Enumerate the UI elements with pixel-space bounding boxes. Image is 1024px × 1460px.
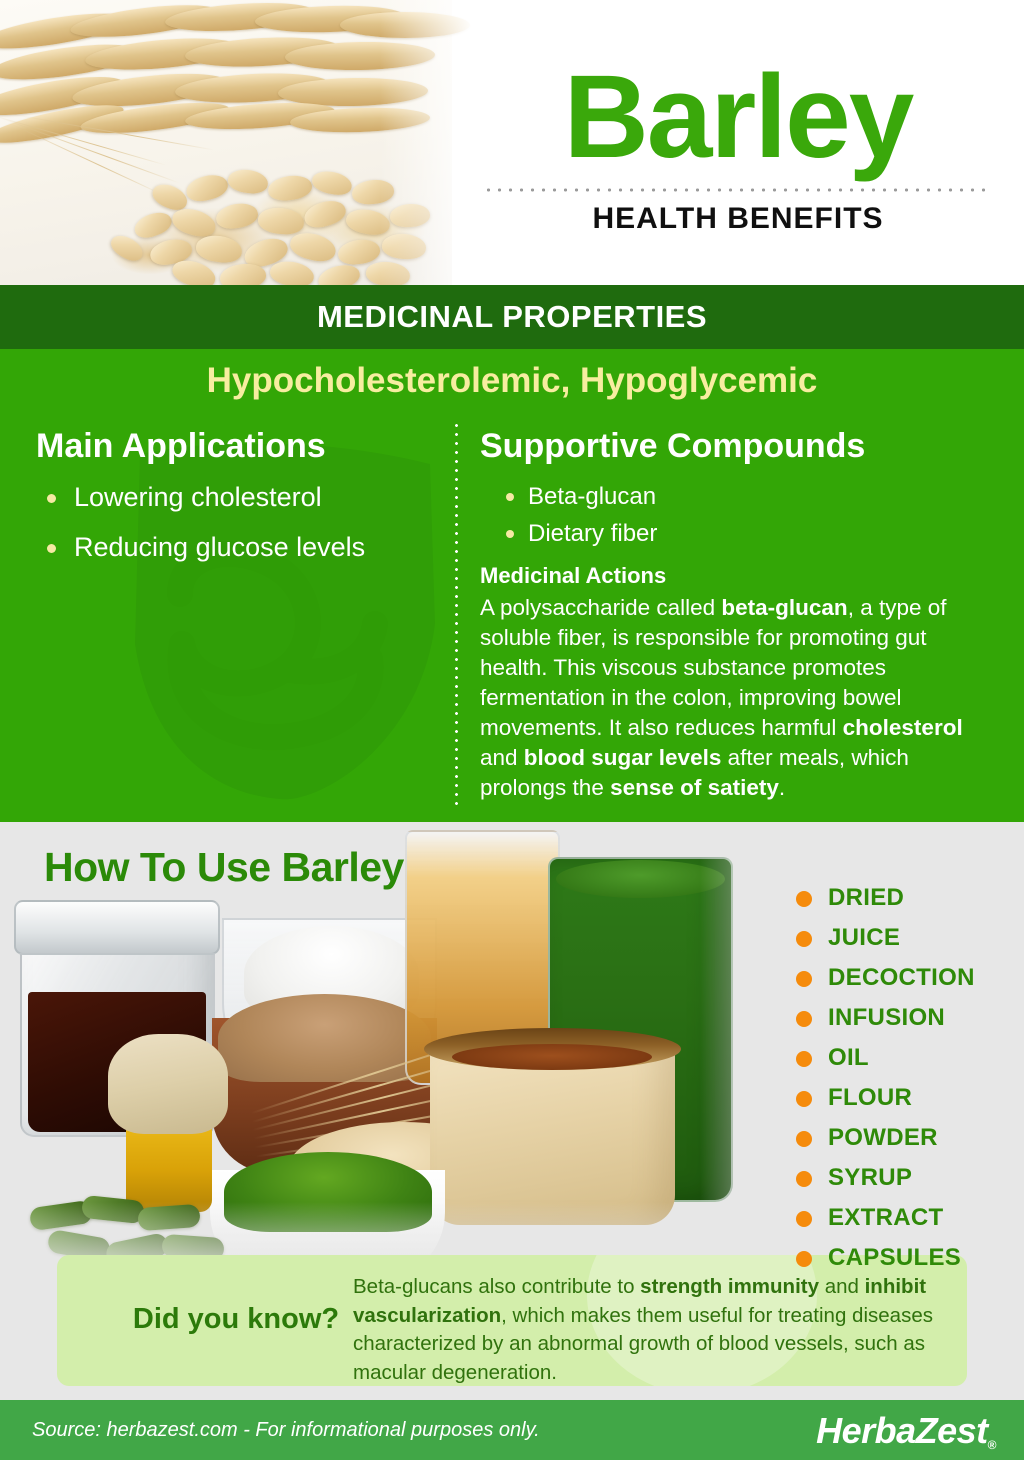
list-item: Reducing glucose levels xyxy=(36,532,436,564)
did-you-know-body: Beta-glucans also contribute to strength… xyxy=(353,1273,945,1386)
main-applications-list: Lowering cholesterol Reducing glucose le… xyxy=(36,482,436,564)
column-divider xyxy=(455,421,458,811)
list-item: POWDER xyxy=(796,1124,1021,1152)
medicinal-actions-heading: Medicinal Actions xyxy=(480,563,995,589)
supportive-compounds-list: Beta-glucan Dietary fiber xyxy=(498,482,995,549)
barley-photo xyxy=(0,0,452,285)
burlap-wrap xyxy=(108,1034,228,1134)
list-item: CAPSULES xyxy=(796,1244,1021,1272)
medicinal-section: Hypocholesterolemic, Hypoglycemic Main A… xyxy=(0,349,1024,822)
list-item: Lowering cholesterol xyxy=(36,482,436,514)
properties-text: Hypocholesterolemic, Hypoglycemic xyxy=(0,361,1024,401)
list-item: DRIED xyxy=(796,884,1021,912)
supportive-compounds-heading: Supportive Compounds xyxy=(480,427,995,466)
decoction-liquid xyxy=(452,1044,652,1070)
uses-list: DRIED JUICE DECOCTION INFUSION OIL FLOUR… xyxy=(796,884,1021,1284)
title-divider xyxy=(483,188,993,192)
list-item: Dietary fiber xyxy=(498,519,995,549)
header: Barley HEALTH BENEFITS xyxy=(0,0,1024,285)
page-title: Barley xyxy=(564,58,913,176)
list-item: INFUSION xyxy=(796,1004,1021,1032)
herbazest-logo: HerbaZest® xyxy=(816,1410,996,1452)
title-block: Barley HEALTH BENEFITS xyxy=(452,0,1024,285)
list-item: JUICE xyxy=(796,924,1021,952)
logo-text: HerbaZest xyxy=(816,1410,988,1451)
medicinal-actions-paragraph: A polysaccharide called beta-glucan, a t… xyxy=(480,593,995,802)
did-you-know-title: Did you know? xyxy=(91,1303,381,1336)
medicinal-properties-band: MEDICINAL PROPERTIES xyxy=(0,285,1024,349)
list-item: FLOUR xyxy=(796,1084,1021,1112)
page-subtitle: HEALTH BENEFITS xyxy=(592,202,883,236)
list-item: DECOCTION xyxy=(796,964,1021,992)
footer-source: Source: herbazest.com - For informationa… xyxy=(32,1419,540,1442)
medicinal-properties-label: MEDICINAL PROPERTIES xyxy=(317,299,707,335)
infographic-page: Barley HEALTH BENEFITS MEDICINAL PROPERT… xyxy=(0,0,1024,1460)
registered-mark: ® xyxy=(988,1438,996,1452)
supportive-compounds-column: Supportive Compounds Beta-glucan Dietary… xyxy=(480,427,995,802)
list-item: Beta-glucan xyxy=(498,482,995,512)
main-applications-column: Main Applications Lowering cholesterol R… xyxy=(36,427,436,582)
list-item: OIL xyxy=(796,1044,1021,1072)
jar-lid xyxy=(14,900,220,955)
list-item: SYRUP xyxy=(796,1164,1021,1192)
barley-products-photo xyxy=(0,822,800,1282)
main-applications-heading: Main Applications xyxy=(36,427,436,466)
footer: Source: herbazest.com - For informationa… xyxy=(0,1400,1024,1460)
list-item: EXTRACT xyxy=(796,1204,1021,1232)
how-to-use-heading: How To Use Barley xyxy=(44,844,404,891)
